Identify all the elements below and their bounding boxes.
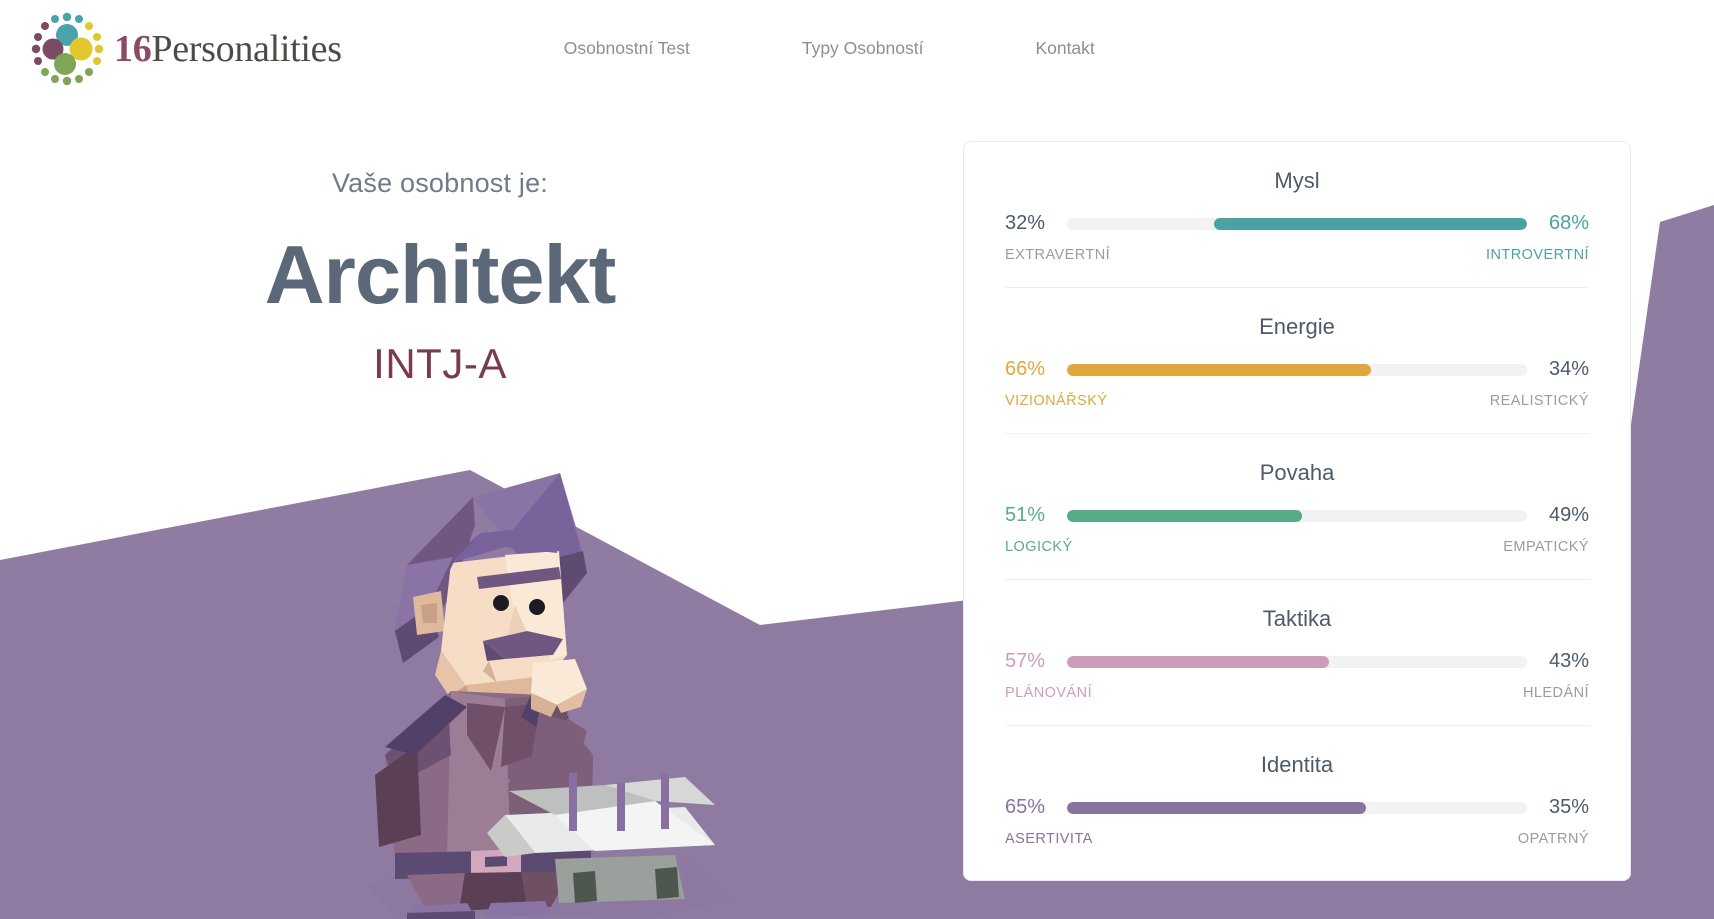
trait-track	[1067, 364, 1527, 376]
trait-left-value: 65%	[1005, 796, 1057, 819]
trait-right-label: HLEDÁNÍ	[1523, 685, 1589, 701]
trait-track	[1067, 802, 1527, 814]
trait-name: Energie	[1005, 314, 1589, 340]
trait-bar-row: 57% 43%	[1005, 650, 1589, 673]
hero-section: Vaše osobnost je: Architekt INTJ-A	[0, 120, 880, 388]
trait-name: Taktika	[1005, 606, 1589, 632]
trait-bar-row: 32% 68%	[1005, 212, 1589, 235]
logo-number: 16	[114, 28, 151, 70]
architect-character-illustration	[355, 455, 745, 919]
nav-item-kontakt[interactable]: Kontakt	[1035, 38, 1094, 59]
trait-labels: VIZIONÁŘSKÝ REALISTICKÝ	[1005, 393, 1589, 409]
trait-bar-row: 65% 35%	[1005, 796, 1589, 819]
trait-right-value: 49%	[1537, 504, 1589, 527]
trait-row-taktika: Taktika 57% 43% PLÁNOVÁNÍ HLEDÁNÍ	[1005, 580, 1589, 726]
trait-right-label: INTROVERTNÍ	[1486, 247, 1589, 263]
personality-code: INTJ-A	[0, 340, 880, 388]
trait-track	[1067, 218, 1527, 230]
trait-fill	[1067, 510, 1302, 522]
trait-left-label: PLÁNOVÁNÍ	[1005, 685, 1092, 701]
trait-row-mysl: Mysl 32% 68% EXTRAVERTNÍ INTROVERTNÍ	[1005, 142, 1589, 288]
trait-name: Mysl	[1005, 168, 1589, 194]
trait-fill	[1067, 802, 1366, 814]
sixteen-personalities-dots-icon	[28, 10, 106, 88]
trait-right-label: REALISTICKÝ	[1490, 393, 1589, 409]
trait-track	[1067, 510, 1527, 522]
trait-left-label: VIZIONÁŘSKÝ	[1005, 393, 1107, 409]
trait-track	[1067, 656, 1527, 668]
nav-item-osobnostni-test[interactable]: Osobnostní Test	[564, 38, 690, 59]
trait-right-value: 35%	[1537, 796, 1589, 819]
trait-bar-row: 66% 34%	[1005, 358, 1589, 381]
nav-item-typy-osobnosti[interactable]: Typy Osobností	[802, 38, 924, 59]
trait-fill	[1067, 656, 1329, 668]
page-title: Architekt	[0, 231, 880, 318]
main-nav: Osobnostní Test Typy Osobností Kontakt	[564, 38, 1095, 59]
trait-right-value: 68%	[1537, 212, 1589, 235]
trait-labels: ASERTIVITA OPATRNÝ	[1005, 831, 1589, 847]
trait-left-label: LOGICKÝ	[1005, 539, 1073, 555]
trait-left-label: ASERTIVITA	[1005, 831, 1093, 847]
trait-labels: LOGICKÝ EMPATICKÝ	[1005, 539, 1589, 555]
logo-text: 16Personalities	[114, 27, 342, 71]
trait-row-energie: Energie 66% 34% VIZIONÁŘSKÝ REALISTICKÝ	[1005, 288, 1589, 434]
logo[interactable]: 16Personalities	[28, 10, 342, 88]
trait-left-value: 66%	[1005, 358, 1057, 381]
trait-left-label: EXTRAVERTNÍ	[1005, 247, 1110, 263]
logo-word: Personalities	[151, 28, 341, 70]
site-header: 16Personalities Osobnostní Test Typy Oso…	[0, 0, 1714, 97]
trait-bar-row: 51% 49%	[1005, 504, 1589, 527]
trait-fill	[1214, 218, 1527, 230]
trait-right-value: 43%	[1537, 650, 1589, 673]
trait-row-identita: Identita 65% 35% ASERTIVITA OPATRNÝ	[1005, 726, 1589, 871]
trait-right-label: OPATRNÝ	[1518, 831, 1589, 847]
trait-labels: PLÁNOVÁNÍ HLEDÁNÍ	[1005, 685, 1589, 701]
trait-name: Identita	[1005, 752, 1589, 778]
trait-right-value: 34%	[1537, 358, 1589, 381]
trait-left-value: 57%	[1005, 650, 1057, 673]
hero-kicker: Vaše osobnost je:	[0, 168, 880, 199]
trait-name: Povaha	[1005, 460, 1589, 486]
trait-row-povaha: Povaha 51% 49% LOGICKÝ EMPATICKÝ	[1005, 434, 1589, 580]
trait-fill	[1067, 364, 1371, 376]
trait-labels: EXTRAVERTNÍ INTROVERTNÍ	[1005, 247, 1589, 263]
personality-traits-card: Mysl 32% 68% EXTRAVERTNÍ INTROVERTNÍ Ene…	[963, 141, 1631, 881]
trait-left-value: 32%	[1005, 212, 1057, 235]
trait-left-value: 51%	[1005, 504, 1057, 527]
trait-right-label: EMPATICKÝ	[1503, 539, 1589, 555]
